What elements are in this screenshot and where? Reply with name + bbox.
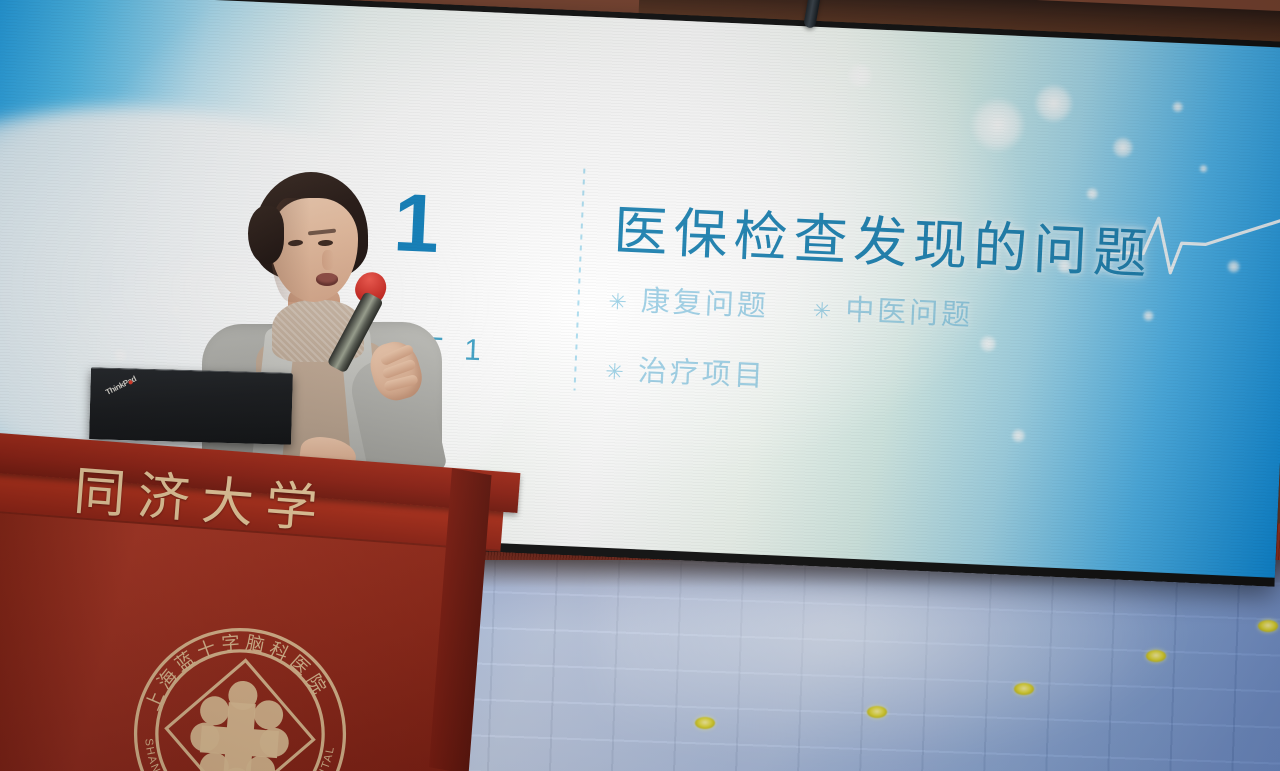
- slide-bullet-row: ✳ 治疗项目: [605, 346, 1015, 406]
- bokeh-dot: [1011, 428, 1027, 444]
- bullet-marker-icon: ✳: [812, 298, 832, 325]
- slide-bullet-list: ✳ 康复问题 ✳ 中医问题 ✳ 治疗项目: [603, 276, 1018, 434]
- hospital-emblem-icon: 上海蓝十字脑科医院 SHANGHAI BLUE CROSS BRAIN HOSP…: [116, 610, 365, 771]
- floor-light-glow: [600, 575, 1220, 771]
- slide-title: 医保检查发现的问题: [612, 186, 1155, 289]
- slide-bullet-text: 治疗项目: [637, 347, 767, 395]
- slide-dashed-divider: [573, 169, 585, 391]
- slide-bullet-text: 康复问题: [640, 277, 770, 325]
- floor-marker: [1146, 650, 1166, 662]
- presentation-scene: 1 PART 1 医保检查发现的问题 ✳ 康复问题 ✳ 中医问题 ✳ 治疗项目: [0, 0, 1280, 771]
- floor-marker: [1014, 683, 1034, 695]
- bullet-marker-icon: ✳: [605, 359, 625, 386]
- bokeh-dot: [1171, 101, 1184, 114]
- slide-bullet-row: ✳ 康复问题 ✳ 中医问题: [608, 276, 1018, 336]
- floor-marker: [695, 717, 715, 729]
- bokeh-dot: [1142, 310, 1155, 323]
- bokeh-dot: [1199, 164, 1208, 173]
- bokeh-dot: [1033, 83, 1075, 125]
- nose: [322, 250, 334, 270]
- mouth: [316, 273, 338, 286]
- bullet-marker-icon: ✳: [608, 289, 628, 316]
- slide-bullet-text: 中医问题: [844, 286, 974, 334]
- bokeh-dot: [969, 96, 1027, 154]
- bokeh-dot: [1085, 187, 1099, 201]
- bokeh-dot: [1111, 136, 1134, 159]
- floor-marker: [1258, 620, 1278, 632]
- floor-marker: [867, 706, 887, 718]
- hair-side: [248, 206, 284, 264]
- bokeh-dot: [846, 62, 873, 89]
